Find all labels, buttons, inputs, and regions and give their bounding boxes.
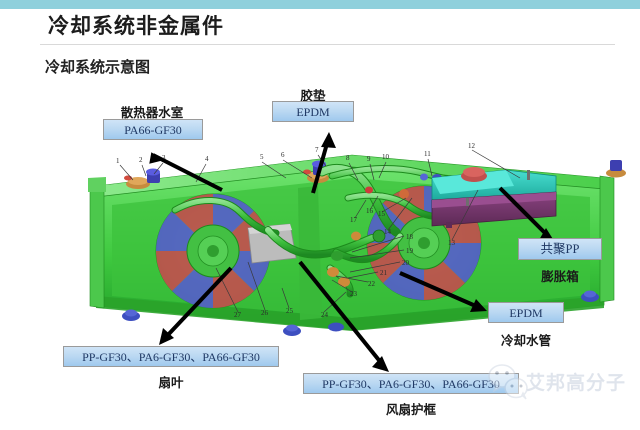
svg-text:1: 1 [116, 157, 120, 165]
svg-text:13: 13 [448, 239, 456, 247]
svg-text:2: 2 [139, 156, 143, 164]
callout-caption-fan-shroud: 风扇护框 [303, 399, 519, 418]
svg-text:6: 6 [281, 151, 285, 159]
svg-text:23: 23 [350, 290, 358, 298]
svg-text:25: 25 [286, 307, 294, 315]
svg-text:20: 20 [402, 259, 410, 267]
svg-text:21: 21 [380, 269, 388, 277]
svg-text:10: 10 [382, 153, 390, 161]
callout-caption-fan-blade: 扇叶 [63, 372, 279, 391]
callout-box-expansion-tank[interactable]: 共聚PP [518, 238, 602, 260]
callout-box-cooling-hose[interactable]: EPDM [488, 302, 564, 323]
svg-text:22: 22 [368, 280, 376, 288]
callout-box-rubber-pad[interactable]: EPDM [272, 101, 354, 122]
svg-text:8: 8 [346, 154, 350, 162]
inlet-fitting-right2 [606, 160, 626, 178]
svg-text:11: 11 [424, 150, 431, 158]
svg-text:16: 16 [366, 207, 374, 215]
svg-text:15: 15 [378, 210, 386, 218]
callout-box-fan-shroud[interactable]: PP-GF30、PA6-GF30、PA66-GF30 [303, 373, 519, 394]
svg-text:26: 26 [261, 309, 269, 317]
svg-text:7: 7 [315, 146, 319, 154]
slide-canvas: 冷却系统非金属件 冷却系统示意图 [0, 0, 640, 430]
svg-text:19: 19 [406, 247, 414, 255]
callout-box-fan-blade[interactable]: PP-GF30、PA6-GF30、PA66-GF30 [63, 346, 279, 367]
svg-text:5: 5 [260, 153, 264, 161]
svg-text:18: 18 [406, 233, 414, 241]
svg-text:4: 4 [205, 155, 209, 163]
svg-text:24: 24 [321, 311, 329, 319]
svg-text:27: 27 [234, 311, 242, 319]
svg-text:14: 14 [384, 228, 392, 236]
svg-text:12: 12 [468, 142, 476, 150]
svg-text:9: 9 [367, 155, 371, 163]
svg-text:17: 17 [350, 216, 358, 224]
callout-box-radiator-tank[interactable]: PA66-GF30 [103, 119, 203, 140]
callout-caption-cooling-hose: 冷却水管 [487, 330, 565, 349]
callout-caption-expansion-tank: 膨胀箱 [518, 266, 602, 285]
